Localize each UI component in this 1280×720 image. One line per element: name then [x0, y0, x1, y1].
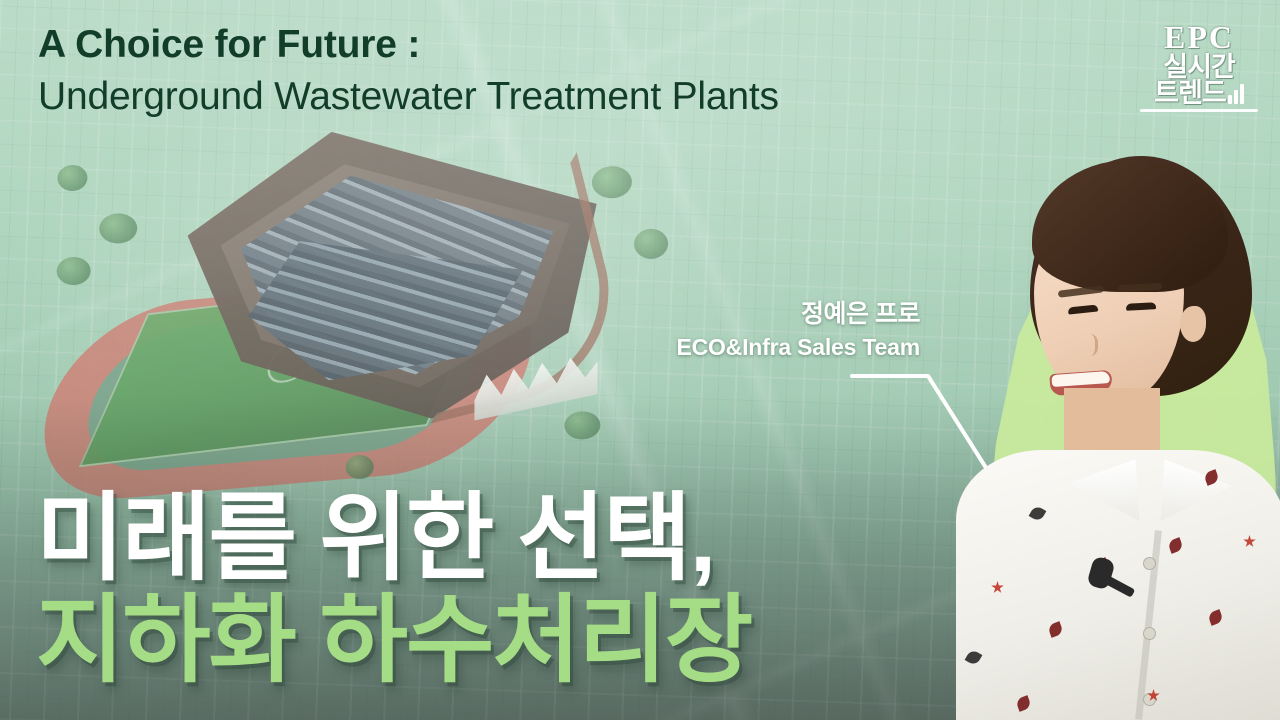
main-headline: 미래를 위한 선택, 지하화 하수처리장 — [36, 492, 751, 688]
presenter-button — [1143, 627, 1156, 640]
speaker-name: 정예은 프로 — [600, 300, 920, 330]
english-title-line1: A Choice for Future : — [38, 24, 779, 66]
headline-line1: 미래를 위한 선택, — [36, 492, 751, 586]
thumbnail-canvas: A Choice for Future : Underground Wastew… — [0, 0, 1280, 720]
logo-line3-row: 트렌드 — [1136, 80, 1262, 107]
english-title-line2: Underground Wastewater Treatment Plants — [38, 76, 779, 118]
presenter-ear — [1180, 306, 1206, 342]
presenter-button — [1143, 557, 1156, 570]
speaker-caption: 정예은 프로 ECO&Infra Sales Team — [600, 300, 920, 361]
bar-chart-icon — [1228, 84, 1244, 104]
presenter-nose — [1079, 334, 1098, 356]
headline-line2: 지하화 하수처리장 — [36, 594, 751, 688]
logo-line3-text: 트렌드 — [1154, 80, 1226, 107]
program-logo: EPC 실시간 트렌드 — [1136, 22, 1262, 112]
presenter-cutout — [950, 120, 1280, 720]
logo-underline — [1140, 109, 1258, 112]
speaker-team: ECO&Infra Sales Team — [600, 334, 920, 362]
presenter-teeth — [1052, 371, 1110, 387]
logo-line2-text: 실시간 — [1136, 54, 1262, 81]
english-title: A Choice for Future : Underground Wastew… — [38, 24, 779, 118]
logo-epc-text: EPC — [1136, 22, 1262, 53]
